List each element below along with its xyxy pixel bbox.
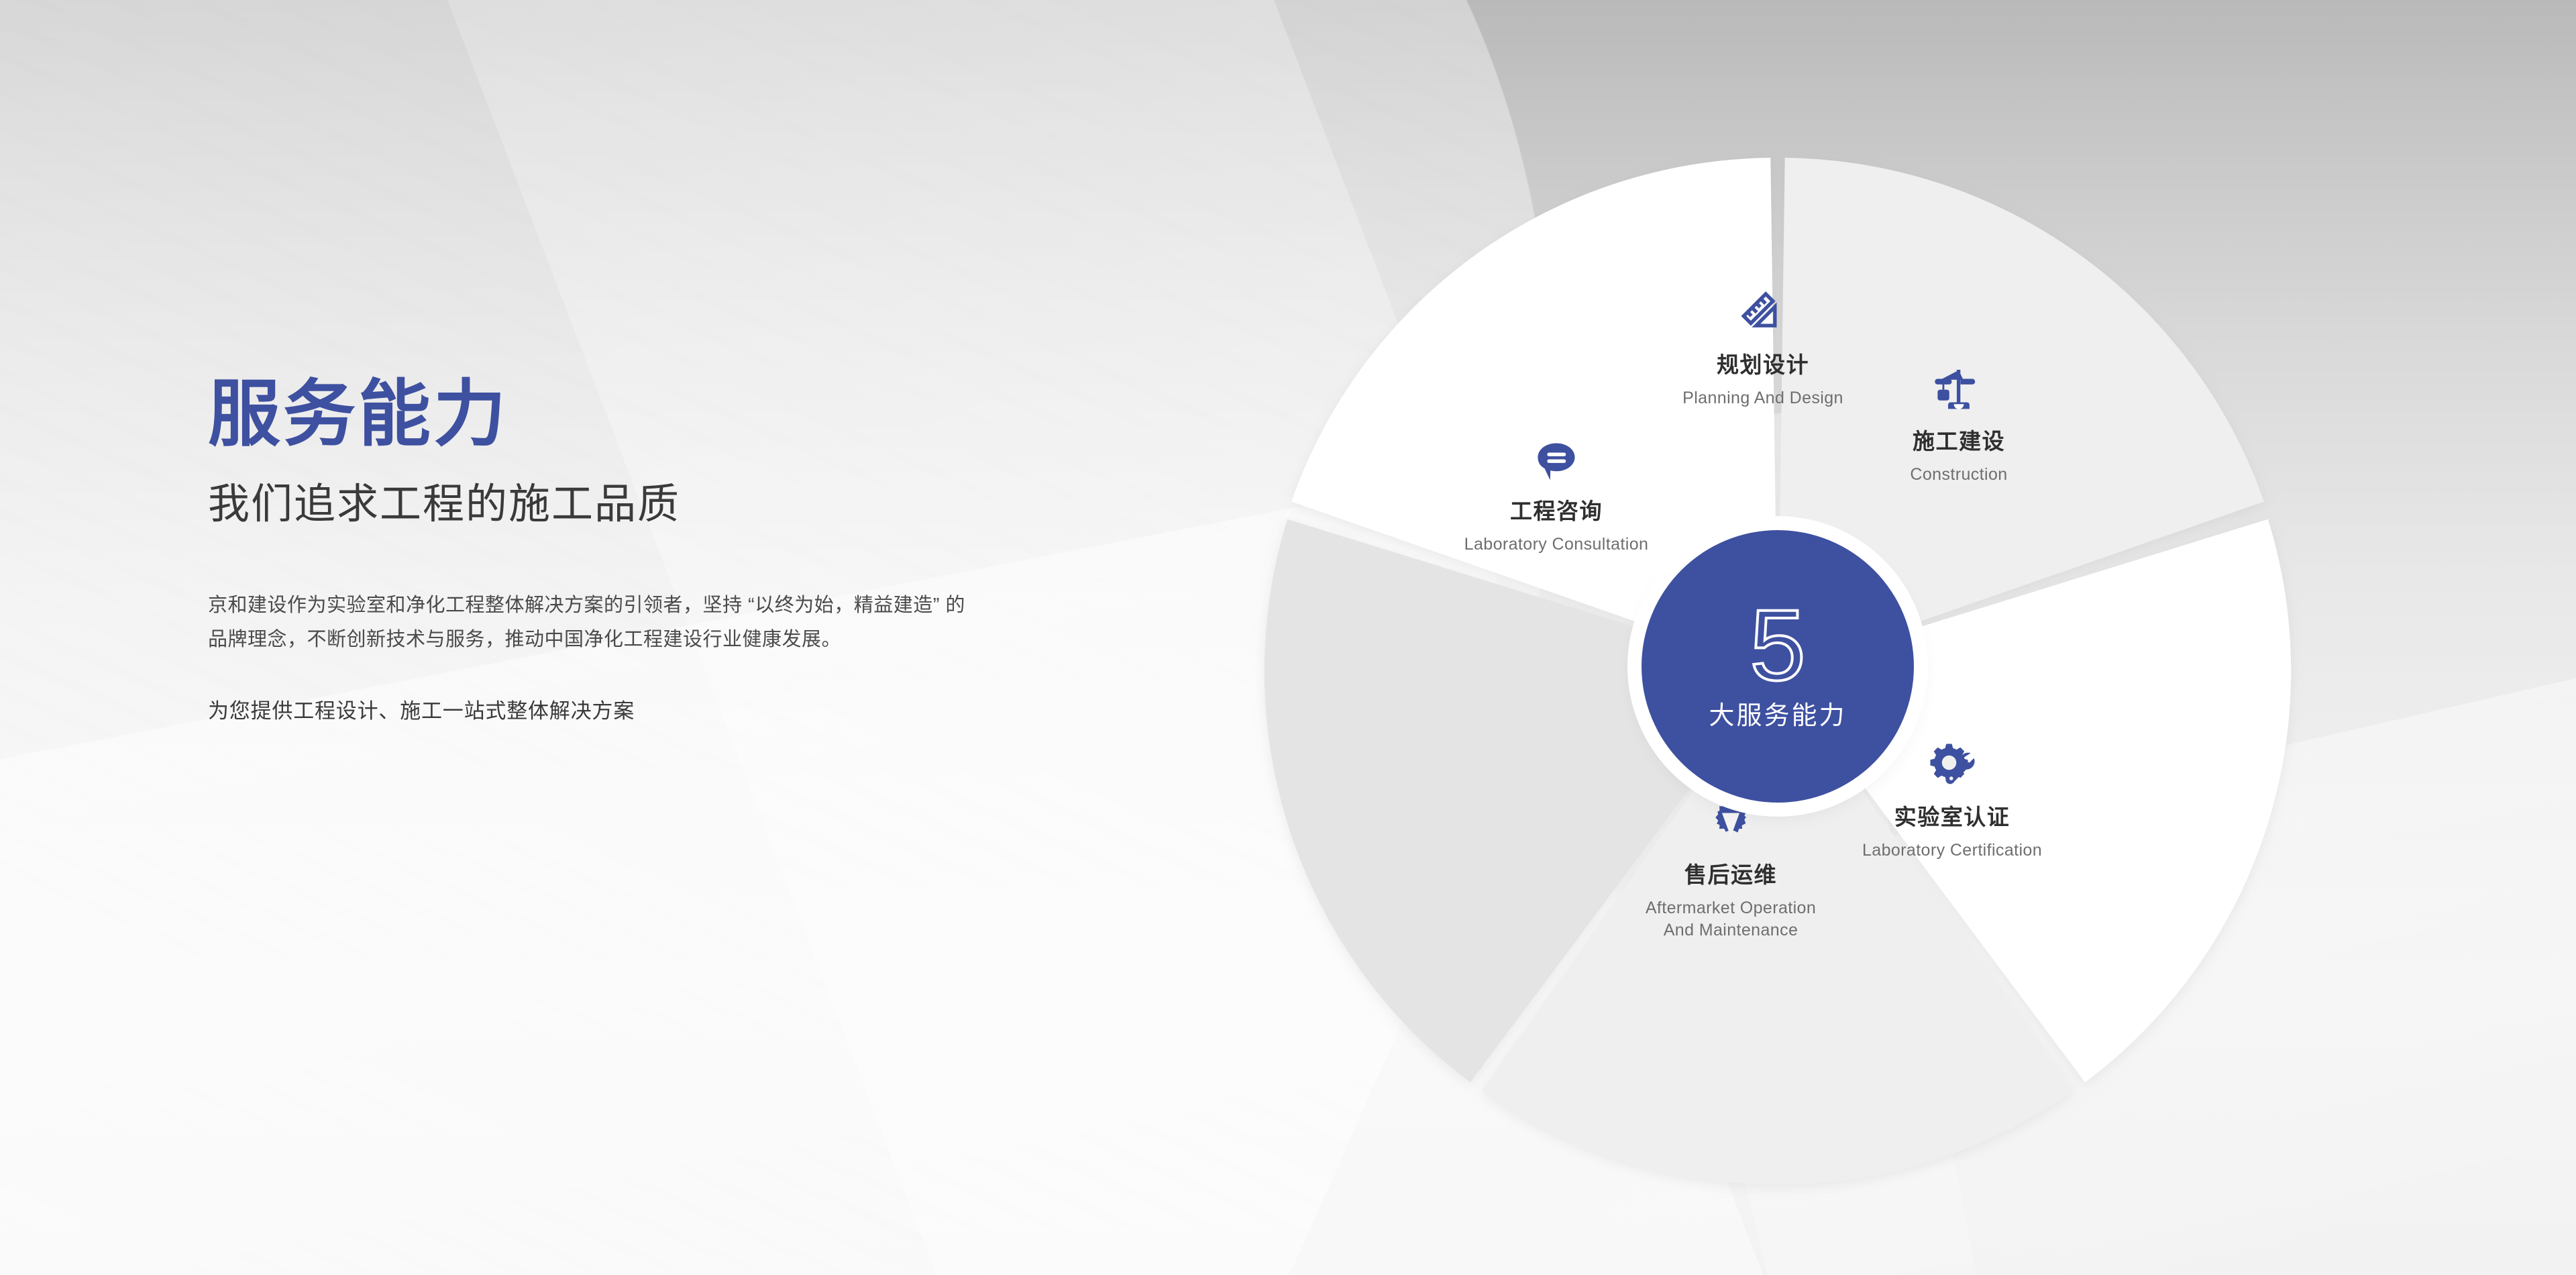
hero-banner: 服务能力 我们追求工程的施工品质 京和建设作为实验室和净化工程整体解决方案的引领… <box>0 0 2576 1275</box>
ruler-set-square-icon <box>1737 289 1789 341</box>
chat-bubble-icon <box>1531 436 1582 487</box>
service-capability-pie-chart: 规划设计 Planning And Design 施工建设 Constructi… <box>1207 101 2348 1241</box>
pie-label-cn: 售后运维 <box>1590 862 1872 888</box>
hero-copy: 服务能力 我们追求工程的施工品质 京和建设作为实验室和净化工程整体解决方案的引领… <box>208 376 1147 724</box>
page-title: 服务能力 <box>208 376 1147 452</box>
pie-label-en: Laboratory Consultation <box>1415 533 1697 556</box>
pie-label-construction[interactable]: 施工建设 Construction <box>1825 362 2093 486</box>
hero-tagline: 为您提供工程设计、施工一站式整体解决方案 <box>208 694 1147 724</box>
gear-wrench-icon <box>1925 738 1980 793</box>
paragraph-line-1: 京和建设作为实验室和净化工程整体解决方案的引领者，坚持 “以终为始，精益建造” … <box>208 589 1073 623</box>
pie-label-aftermarket-operation[interactable]: 售后运维 Aftermarket Operation And Maintenan… <box>1590 799 1872 942</box>
pie-label-en: Aftermarket Operation And Maintenance <box>1590 897 1872 942</box>
pie-label-cn: 施工建设 <box>1825 428 2093 455</box>
pie-center-hub[interactable]: 5 大服务能力 <box>1642 530 1914 803</box>
verified-badge-icon <box>1705 799 1757 851</box>
pie-label-laboratory-consultation[interactable]: 工程咨询 Laboratory Consultation <box>1415 436 1697 556</box>
pie-label-en: Construction <box>1825 464 2093 487</box>
hub-label: 大服务能力 <box>1709 695 1846 731</box>
paragraph-line-2: 品牌理念，不断创新技术与服务，推动中国净化工程建设行业健康发展。 <box>208 623 1073 657</box>
tower-crane-icon <box>1931 362 1986 417</box>
page-subtitle: 我们追求工程的施工品质 <box>208 481 1147 527</box>
hub-number: 5 <box>1750 597 1805 693</box>
hero-paragraph: 京和建设作为实验室和净化工程整体解决方案的引领者，坚持 “以终为始，精益建造” … <box>208 589 1073 657</box>
pie-label-cn: 工程咨询 <box>1415 498 1697 525</box>
